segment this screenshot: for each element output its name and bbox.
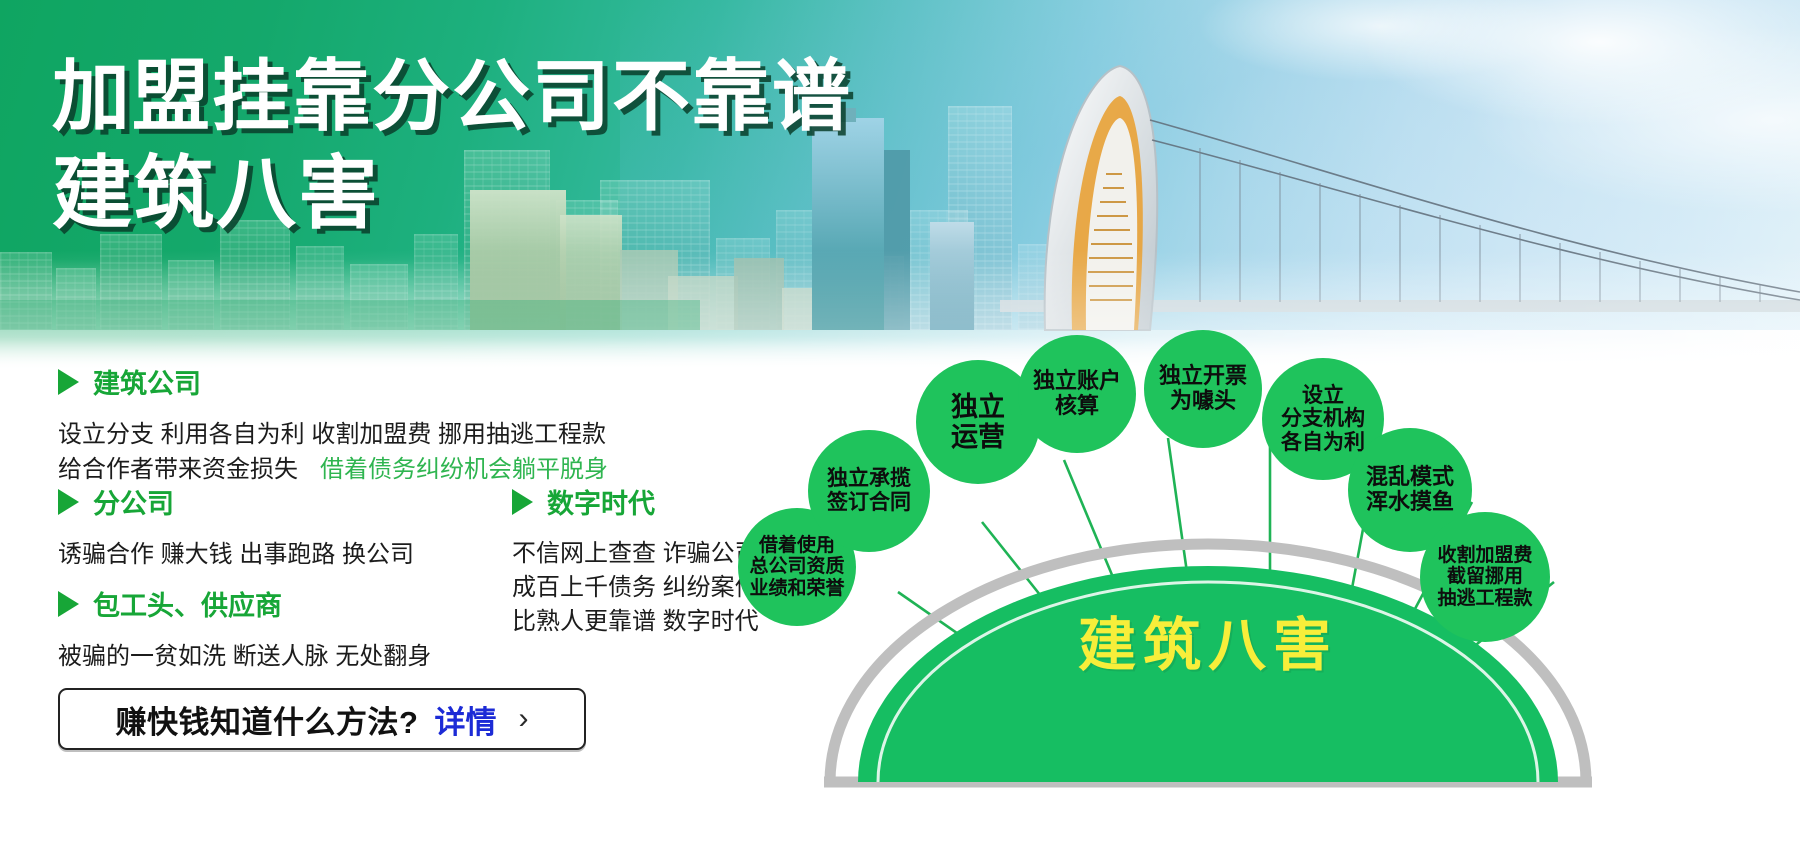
body-line: 比熟人更靠谱 数字时代 <box>512 605 759 639</box>
bubble-line: 独立账户 <box>1033 369 1121 394</box>
section-body-branch-company: 诱骗合作 赚大钱 出事跑路 换公司 <box>58 537 414 572</box>
section-construction-company: 建筑公司 设立分支 利用各自为利 收割加盟费 挪用抽逃工程款 给合作者带来资金损… <box>58 362 608 487</box>
hero-title-line-1: 加盟挂靠分公司不靠谱 <box>52 52 852 141</box>
chevron-right-icon: › <box>518 702 528 736</box>
bubble-line: 总公司资质 <box>749 556 844 577</box>
triangle-bullet-icon <box>58 591 79 617</box>
bubble-line: 混乱模式 <box>1366 465 1454 490</box>
cta-main-text: 赚快钱知道什么方法? <box>116 697 419 742</box>
triangle-bullet-icon <box>512 489 533 515</box>
section-title: 分公司 <box>93 482 174 521</box>
bubble-line: 业绩和荣誉 <box>749 578 844 599</box>
bubble-line: 签订合同 <box>827 491 911 515</box>
section-contractor-supplier: 包工头、供应商 被骗的一贫如洗 断送人脉 无处翻身 <box>58 584 431 674</box>
bubble-line: 截留挪用 <box>1437 566 1532 587</box>
section-title: 建筑公司 <box>93 362 201 401</box>
cta-detail-link[interactable]: 详情 <box>434 697 496 742</box>
bubble-diagram: 借着使用 总公司资质 业绩和荣誉 独立承揽 签订合同 独立 运营 独立账户 核算 <box>800 330 1800 844</box>
bubble-line: 独立 <box>951 392 1005 422</box>
bubble-shouge-jiamengfei[interactable]: 收割加盟费 截留挪用 抽逃工程款 <box>1420 512 1550 642</box>
section-body-digital-era: 不信网上查查 诈骗公司 成百上千债务 纠纷案件 比熟人更靠谱 数字时代 <box>512 537 759 639</box>
body-line: 被骗的一贫如洗 断送人脉 无处翻身 <box>58 639 431 674</box>
bubble-line: 设立 <box>1281 384 1365 408</box>
bubble-line: 各自为利 <box>1281 431 1365 455</box>
body-line: 诱骗合作 赚大钱 出事跑路 换公司 <box>58 537 414 572</box>
body-line: 不信网上查查 诈骗公司 <box>512 537 759 571</box>
hero-title: 加盟挂靠分公司不靠谱 建筑八害 <box>52 52 852 241</box>
body-line: 设立分支 利用各自为利 收割加盟费 挪用抽逃工程款 <box>58 417 608 452</box>
cta-button[interactable]: 赚快钱知道什么方法? 详情 › <box>58 688 586 750</box>
left-content-column: 建筑公司 设立分支 利用各自为利 收割加盟费 挪用抽逃工程款 给合作者带来资金损… <box>0 372 820 844</box>
section-heading-branch-company: 分公司 <box>58 482 414 521</box>
bubble-duli-zhanghu[interactable]: 独立账户 核算 <box>1018 335 1136 453</box>
section-title: 包工头、供应商 <box>93 584 282 623</box>
bubble-duli-chenglan[interactable]: 独立承揽 签订合同 <box>808 430 930 552</box>
dome-center-label: 建筑八害 <box>978 598 1438 682</box>
bubble-line: 抽逃工程款 <box>1437 588 1532 609</box>
bubble-duli-kaipiao[interactable]: 独立开票 为噱头 <box>1144 330 1262 448</box>
triangle-bullet-icon <box>58 369 79 395</box>
body-line-black: 给合作者带来资金损失 <box>58 456 298 483</box>
bubble-line: 收割加盟费 <box>1437 545 1532 566</box>
bubble-line: 核算 <box>1033 394 1121 419</box>
poster-root: 加盟挂靠分公司不靠谱 建筑八害 建筑公司 设立分支 利用各自为利 收割加盟费 挪… <box>0 0 1800 844</box>
section-branch-company: 分公司 诱骗合作 赚大钱 出事跑路 换公司 <box>58 482 414 572</box>
body-line: 成百上千债务 纠纷案件 <box>512 571 759 605</box>
section-body-contractor-supplier: 被骗的一贫如洗 断送人脉 无处翻身 <box>58 639 431 674</box>
section-body-construction-company: 设立分支 利用各自为利 收割加盟费 挪用抽逃工程款 给合作者带来资金损失借着债务… <box>58 417 608 487</box>
triangle-bullet-icon <box>58 489 79 515</box>
bubble-line: 分支机构 <box>1281 407 1365 431</box>
hero-title-line-2: 建筑八害 <box>52 147 852 241</box>
section-heading-construction-company: 建筑公司 <box>58 362 608 401</box>
section-heading-contractor-supplier: 包工头、供应商 <box>58 584 431 623</box>
bubble-line: 独立开票 <box>1159 364 1247 389</box>
body-line-green: 借着债务纠纷机会躺平脱身 <box>320 456 608 483</box>
bubble-line: 为噱头 <box>1159 389 1247 414</box>
section-heading-digital-era: 数字时代 <box>512 482 759 521</box>
section-digital-era: 数字时代 不信网上查查 诈骗公司 成百上千债务 纠纷案件 比熟人更靠谱 数字时代 <box>512 482 759 639</box>
bubble-line: 浑水摸鱼 <box>1366 490 1454 515</box>
bubble-line: 独立承揽 <box>827 467 911 491</box>
section-title: 数字时代 <box>547 482 655 521</box>
hero-banner: 加盟挂靠分公司不靠谱 建筑八害 <box>0 0 1800 370</box>
bubble-line: 运营 <box>951 422 1005 452</box>
